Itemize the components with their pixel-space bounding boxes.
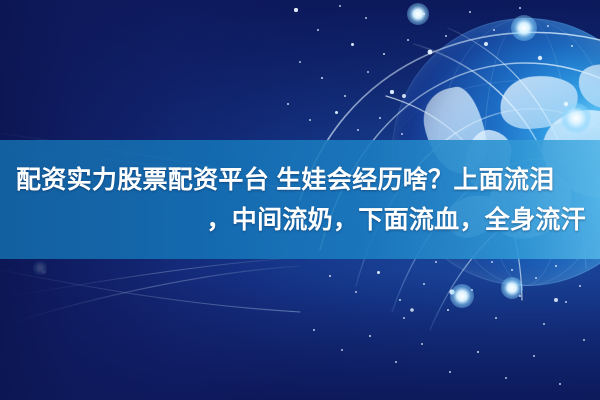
headline-line-2: ，中间流奶，下面流血，全身流汗 [16, 200, 586, 240]
page-title: 配资实力股票配资平台 生娃会经历啥？上面流泪 ，中间流奶，下面流血，全身流汗 [16, 160, 586, 240]
promo-banner: 配资实力股票配资平台 生娃会经历啥？上面流泪 ，中间流奶，下面流血，全身流汗 [0, 0, 600, 400]
caption-band-content: 配资实力股票配资平台 生娃会经历啥？上面流泪 ，中间流奶，下面流血，全身流汗 [0, 140, 600, 259]
headline-line-1: 配资实力股票配资平台 生娃会经历啥？上面流泪 [16, 160, 586, 200]
